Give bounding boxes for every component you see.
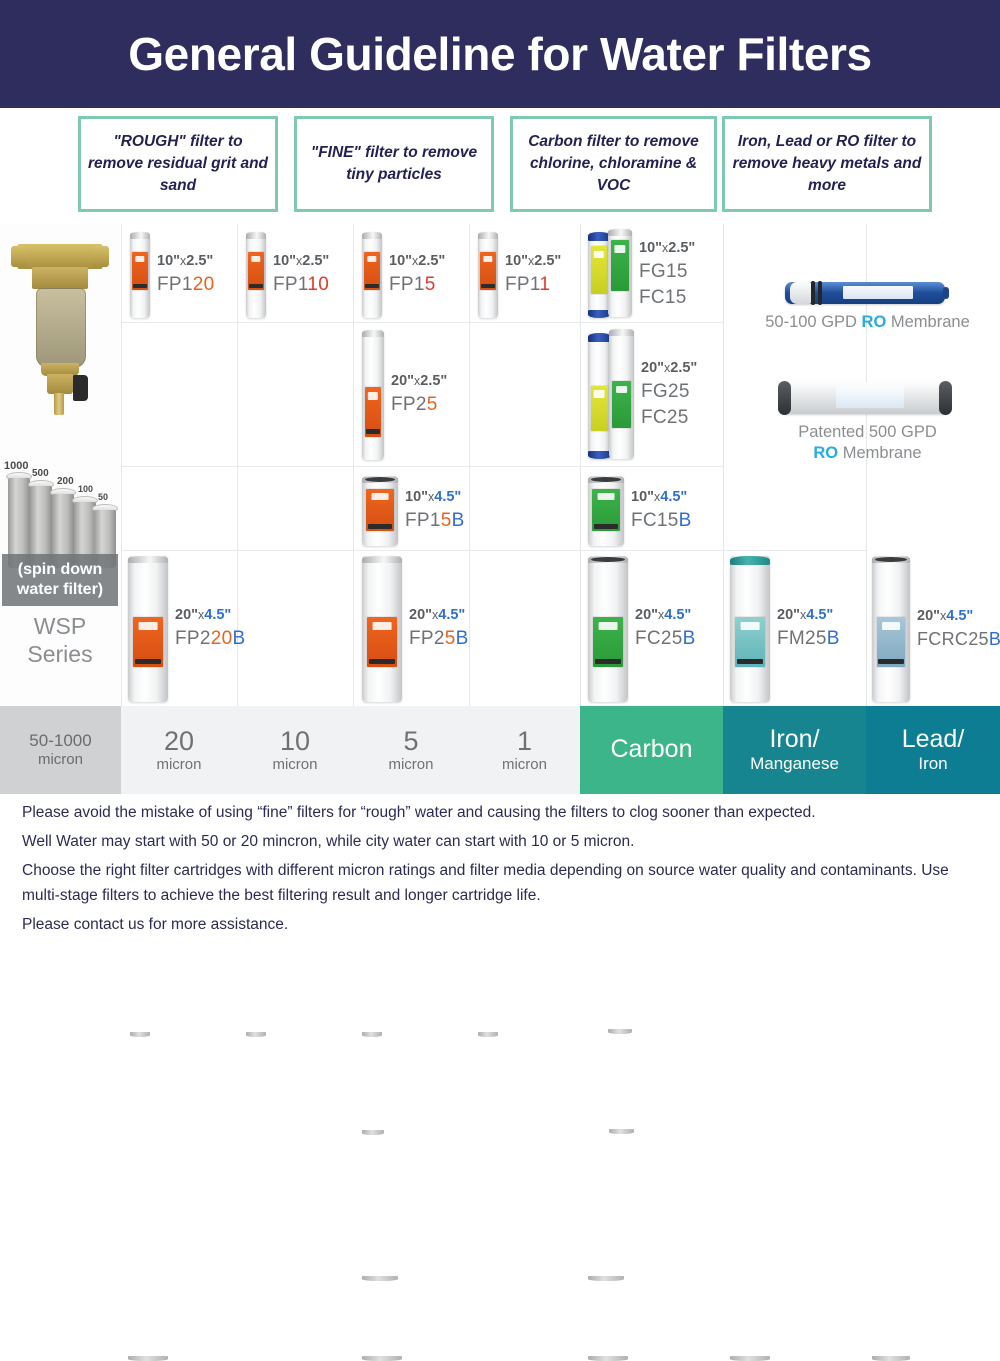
micron-value-carbon: Carbon: [611, 736, 693, 762]
product-dim-fp15b: 10"x4.5": [405, 488, 465, 507]
product-code-fc15b: FC15B: [631, 509, 692, 534]
spin-down-caption-line2: water filter): [17, 580, 103, 600]
product-code-fp120: FP120: [157, 273, 214, 298]
micron-unit-wsp: micron: [38, 751, 83, 768]
product-dim-fp11: 10"x2.5": [505, 252, 561, 271]
page-title: General Guideline for Water Filters: [0, 0, 1000, 108]
micron-cell-1: 1 micron: [469, 706, 580, 794]
wsp-series-line2: Series: [27, 641, 92, 669]
product-cell-fm25b[interactable]: 20"x4.5" FM25B: [730, 554, 864, 704]
category-label-heavy-metals: Iron, Lead or RO filter to remove heavy …: [725, 131, 929, 197]
spin-down-caption: (spin down water filter): [2, 554, 118, 606]
footer-note-2: Well Water may start with 50 or 20 mincr…: [22, 829, 984, 854]
infographic-page: General Guideline for Water Filters "ROU…: [0, 0, 1000, 1000]
product-code-fc15: FC15: [639, 286, 695, 311]
product-cell-fg15-fc15[interactable]: 10"x2.5" FG15 FC15: [588, 228, 722, 322]
ro-membrane-big-image: [780, 382, 950, 414]
mesh-label-1000: 1000: [4, 460, 28, 472]
product-cell-fp220b[interactable]: 20"x4.5" FP220B: [128, 554, 236, 704]
product-dim-fg25: 20"x2.5": [641, 359, 697, 378]
ro-membrane-big-caption: Patented 500 GPD RO Membrane: [740, 422, 995, 465]
product-cell-fp11[interactable]: 10"x2.5" FP11: [478, 230, 580, 320]
ro-small-prefix: 50-100 GPD: [765, 313, 861, 331]
product-dim-fp120: 10"x2.5": [157, 252, 214, 271]
product-cell-fcrc25b[interactable]: 20"x4.5" FCRC25B: [872, 554, 1000, 704]
micron-value-20: 20: [164, 727, 194, 755]
product-dim-fcrc25b: 20"x4.5": [917, 607, 1000, 626]
product-cell-fc15b[interactable]: 10"x4.5" FC15B: [588, 474, 722, 548]
micron-value-lead: Lead/: [902, 726, 965, 752]
micron-unit-20: micron: [156, 756, 201, 773]
footer-note-1: Please avoid the mistake of using “fine”…: [22, 800, 984, 825]
footer-notes: Please avoid the mistake of using “fine”…: [22, 800, 984, 942]
mesh-label-50: 50: [98, 492, 108, 502]
ro-big-ro: RO: [813, 444, 838, 462]
spin-down-caption-line1: (spin down: [18, 560, 102, 580]
micron-rating-bar: 50-1000 micron 20 micron 10 micron 5 mic…: [0, 706, 1000, 794]
product-cell-fp25[interactable]: 20"x2.5" FP25: [362, 328, 468, 462]
micron-value-5: 5: [403, 727, 418, 755]
micron-cell-20: 20 micron: [121, 706, 237, 794]
micron-unit-1: micron: [502, 756, 547, 773]
product-code-fg25: FG25: [641, 380, 697, 405]
product-dim-fm25b: 20"x4.5": [777, 606, 840, 625]
title-bar: General Guideline for Water Filters: [0, 0, 1000, 108]
mesh-label-100: 100: [78, 484, 93, 494]
product-dim-fp15: 10"x2.5": [389, 252, 445, 271]
product-code-fp25b: FP25B: [409, 627, 469, 652]
micron-value-wsp: 50-1000: [29, 732, 91, 750]
ro-membrane-small-caption: 50-100 GPD RO Membrane: [740, 312, 995, 333]
product-code-fc25b: FC25B: [635, 627, 696, 652]
product-cell-fp25b[interactable]: 20"x4.5" FP25B: [362, 554, 468, 704]
product-dim-fg15: 10"x2.5": [639, 239, 695, 258]
product-dim-fp110: 10"x2.5": [273, 252, 329, 271]
micron-unit-5: micron: [388, 756, 433, 773]
product-dim-fp25b: 20"x4.5": [409, 606, 469, 625]
ro-small-suffix: Membrane: [886, 313, 969, 331]
product-dim-fp25: 20"x2.5": [391, 372, 447, 391]
product-dim-fp220b: 20"x4.5": [175, 606, 245, 625]
product-dim-fc25b: 20"x4.5": [635, 606, 696, 625]
micron-unit-10: micron: [272, 756, 317, 773]
micron-cell-10: 10 micron: [237, 706, 353, 794]
product-dim-fc15b: 10"x4.5": [631, 488, 692, 507]
micron-cell-lead-iron: Lead/ Iron: [866, 706, 1000, 794]
micron-cell-carbon: Carbon: [580, 706, 723, 794]
product-cell-fp15[interactable]: 10"x2.5" FP15: [362, 230, 468, 320]
category-box-rough: "ROUGH" filter to remove residual grit a…: [78, 116, 278, 212]
micron-unit-lead: Iron: [918, 754, 947, 774]
product-cell-fp110[interactable]: 10"x2.5" FP110: [246, 230, 352, 320]
product-code-fm25b: FM25B: [777, 627, 840, 652]
ro-big-suffix: Membrane: [838, 444, 921, 462]
category-box-fine: "FINE" filter to remove tiny particles: [294, 116, 494, 212]
ro-small-ro: RO: [862, 313, 887, 331]
micron-value-iron: Iron/: [769, 726, 819, 752]
product-code-fg15: FG15: [639, 260, 695, 285]
category-label-rough: "ROUGH" filter to remove residual grit a…: [81, 131, 275, 197]
category-box-heavy-metals: Iron, Lead or RO filter to remove heavy …: [722, 116, 932, 212]
micron-value-1: 1: [517, 727, 532, 755]
wsp-series-label: WSP Series: [2, 610, 118, 672]
footer-note-3: Choose the right filter cartridges with …: [22, 858, 984, 908]
product-code-fp15: FP15: [389, 273, 445, 298]
micron-cell-5: 5 micron: [353, 706, 469, 794]
product-code-fp220b: FP220B: [175, 627, 245, 652]
product-cell-fp15b[interactable]: 10"x4.5" FP15B: [362, 474, 468, 548]
ro-big-line1: Patented 500 GPD: [740, 422, 995, 443]
product-code-fcrc25b: FCRC25B: [917, 628, 1000, 651]
spin-down-housing-image: [11, 232, 109, 444]
category-label-fine: "FINE" filter to remove tiny particles: [297, 142, 491, 186]
micron-unit-iron: Manganese: [750, 754, 839, 774]
mesh-label-500: 500: [32, 468, 49, 479]
product-code-fp11: FP11: [505, 273, 561, 298]
product-code-fc25: FC25: [641, 406, 697, 431]
footer-note-4: Please contact us for more assistance.: [22, 912, 984, 937]
micron-cell-wsp: 50-1000 micron: [0, 706, 121, 794]
micron-value-10: 10: [280, 727, 310, 755]
product-code-fp15b: FP15B: [405, 509, 465, 534]
micron-cell-iron-manganese: Iron/ Manganese: [723, 706, 866, 794]
category-header-row: "ROUGH" filter to remove residual grit a…: [0, 116, 1000, 216]
ro-membrane-small-image: [785, 282, 945, 304]
product-code-fp25: FP25: [391, 393, 447, 418]
sidebar-wsp-column: 1000 500 200 100 50 (spin down water fil…: [0, 224, 120, 706]
category-label-carbon: Carbon filter to remove chlorine, chlora…: [513, 131, 714, 197]
product-grid: 1000 500 200 100 50 (spin down water fil…: [0, 224, 1000, 706]
category-box-carbon: Carbon filter to remove chlorine, chlora…: [510, 116, 717, 212]
product-cell-fc25b[interactable]: 20"x4.5" FC25B: [588, 554, 722, 704]
wsp-series-line1: WSP: [34, 613, 86, 641]
product-cell-fg25-fc25[interactable]: 20"x2.5" FG25 FC25: [588, 328, 722, 462]
mesh-label-200: 200: [57, 476, 74, 487]
product-code-fp110: FP110: [273, 273, 329, 298]
product-cell-fp120[interactable]: 10"x2.5" FP120: [130, 230, 236, 320]
